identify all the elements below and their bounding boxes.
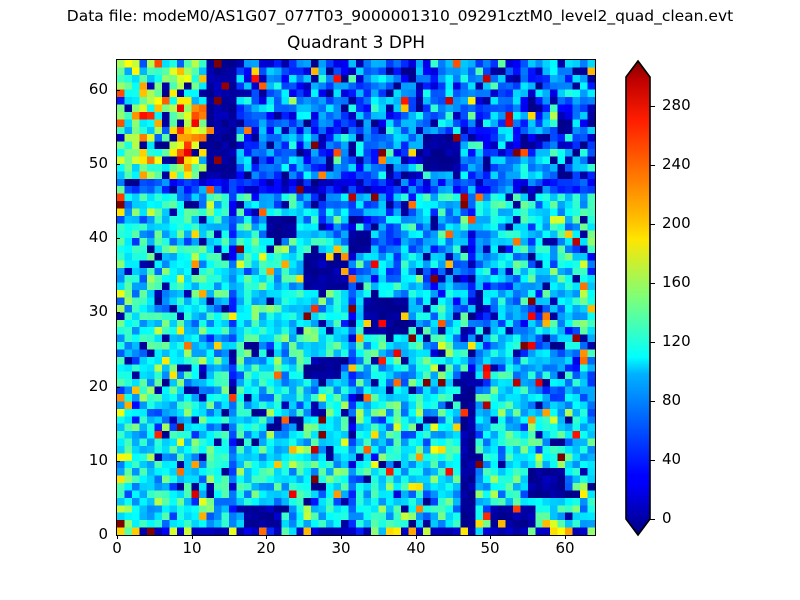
x-tick-label: 40 [396,540,436,557]
colorbar-tick-mark [650,460,655,461]
x-tick-label: 10 [172,540,212,557]
x-tick-label: 30 [321,540,361,557]
y-tick-mark [116,312,120,313]
heatmap-image[interactable] [117,60,595,535]
colorbar-tick-label: 240 [662,156,691,173]
y-tick-mark [116,90,120,91]
y-tick-label: 40 [68,229,108,246]
colorbar-gradient [624,59,652,537]
figure-canvas: Data file: modeM0/AS1G07_077T03_90000013… [0,0,800,600]
colorbar-tick-mark [650,106,655,107]
y-tick-mark [116,164,120,165]
y-tick-mark [116,238,120,239]
colorbar-tick-mark [650,283,655,284]
colorbar-tick-label: 120 [662,333,691,350]
colorbar-tick-mark [650,165,655,166]
colorbar-tick-label: 280 [662,97,691,114]
plot-title: Quadrant 3 DPH [116,33,596,53]
colorbar-tick-mark [650,401,655,402]
heatmap-plot-area[interactable] [116,59,596,536]
colorbar-tick-label: 40 [662,451,681,468]
x-tick-label: 50 [470,540,510,557]
x-tick-label: 20 [246,540,286,557]
x-tick-label: 60 [545,540,585,557]
y-tick-mark [116,461,120,462]
colorbar-tick-label: 160 [662,274,691,291]
colorbar-tick-mark [650,519,655,520]
y-tick-label: 30 [68,303,108,320]
y-tick-mark [116,387,120,388]
colorbar-tick-label: 0 [662,510,672,527]
y-tick-label: 50 [68,155,108,172]
y-tick-label: 10 [68,452,108,469]
y-tick-mark [116,535,120,536]
colorbar-tick-mark [650,342,655,343]
colorbar-tick-label: 80 [662,392,681,409]
colorbar-tick-label: 200 [662,215,691,232]
data-file-label: Data file: modeM0/AS1G07_077T03_90000013… [0,7,800,25]
colorbar-tick-mark [650,224,655,225]
y-tick-label: 0 [68,526,108,543]
y-tick-label: 60 [68,81,108,98]
y-tick-label: 20 [68,378,108,395]
colorbar[interactable]: 28024020016012080400 [624,59,744,539]
